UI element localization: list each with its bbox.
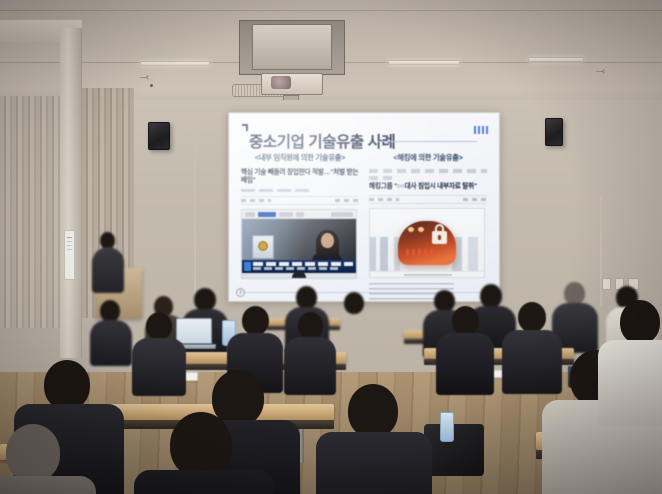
play-button-icon[interactable] (292, 271, 306, 279)
ticker-headline-line1 (253, 262, 353, 266)
slide-column-left: <내부 임직원에 의한 기술유출> 핵심 기술 빼돌려 창업한다 적발…"처벌 … (241, 153, 359, 279)
sprinkler-head (150, 84, 153, 87)
ceiling-light-strip (388, 60, 460, 65)
seminar-room-photo: ⤙ ⤙ 중소기업 기술유출 사례 <내부 임직원에 의한 기술유출> 핵심 기술… (0, 0, 662, 494)
projector-lens (271, 76, 291, 89)
slide-page-number: 7 (236, 288, 245, 297)
projection-screen: 중소기업 기술유출 사례 <내부 임직원에 의한 기술유출> 핵심 기술 빼돌려… (228, 112, 500, 302)
ticker-headline-line2 (253, 267, 338, 270)
news-anchor-head (321, 233, 334, 248)
article-share-dots (335, 199, 359, 202)
tv-news-capture (241, 209, 357, 279)
column-heading-right: <해킹에 의한 기술유출> (369, 153, 487, 163)
news-video-frame (242, 219, 356, 266)
column-heading-left: <내부 임직원에 의한 기술유출> (241, 153, 359, 163)
slide-title: 중소기업 기술유출 사례 (249, 130, 395, 152)
water-bottle[interactable] (440, 412, 454, 442)
article-headline-right: 해킹그룹 "○○대사 침입시 내부자료 탈취" (369, 183, 487, 191)
window-curtain-left (0, 96, 62, 328)
title-marker-icon (242, 124, 248, 131)
backpack[interactable] (424, 424, 484, 476)
padlock-keyhole-icon (438, 235, 441, 240)
ransomware-robot-figure (398, 221, 456, 265)
article-byline-left (241, 189, 313, 192)
title-underline (377, 141, 477, 142)
article-headline-left: 핵심 기술 빼돌려 창업한다 적발…"처벌 받는 배임" (241, 169, 359, 185)
article-toolbar-right (369, 195, 487, 204)
article-meta-dots (369, 198, 399, 201)
projector-mount-plate (252, 24, 332, 70)
presentation-slide: 중소기업 기술유출 사례 <내부 임직원에 의한 기술유출> 핵심 기술 빼돌려… (229, 113, 499, 301)
laptop-screen[interactable] (176, 318, 212, 344)
robot-grille (406, 249, 434, 256)
image-caption-bar (370, 271, 484, 277)
article-toolbar-left (241, 196, 359, 205)
wall-speaker-right (545, 118, 563, 146)
article-subnav-right (369, 176, 395, 180)
article-nav-right (369, 169, 487, 173)
wall-speaker-left (148, 122, 170, 150)
article-share-dots (463, 198, 487, 201)
ceiling-light-strip (528, 57, 584, 62)
article-meta-dots (241, 199, 271, 202)
wall-conduit (194, 118, 196, 304)
power-outlet[interactable] (602, 278, 611, 290)
ceiling-light-strip (140, 61, 210, 66)
desk-leg (300, 429, 304, 463)
player-active-tab (258, 212, 276, 217)
ceiling-wire: ⤙ (596, 66, 605, 77)
ticker-badge-icon (244, 262, 251, 271)
ceiling-wire: ⤙ (140, 72, 149, 83)
player-topbar (242, 210, 356, 219)
wall-notice-poster (64, 230, 75, 280)
slide-column-right: <해킹에 의한 기술유출> 해킹그룹 "○○대사 침입시 내부자료 탈취" (369, 153, 487, 301)
structural-column (60, 28, 82, 358)
organization-logo-icon (474, 126, 490, 134)
ransomware-illustration (369, 208, 485, 278)
